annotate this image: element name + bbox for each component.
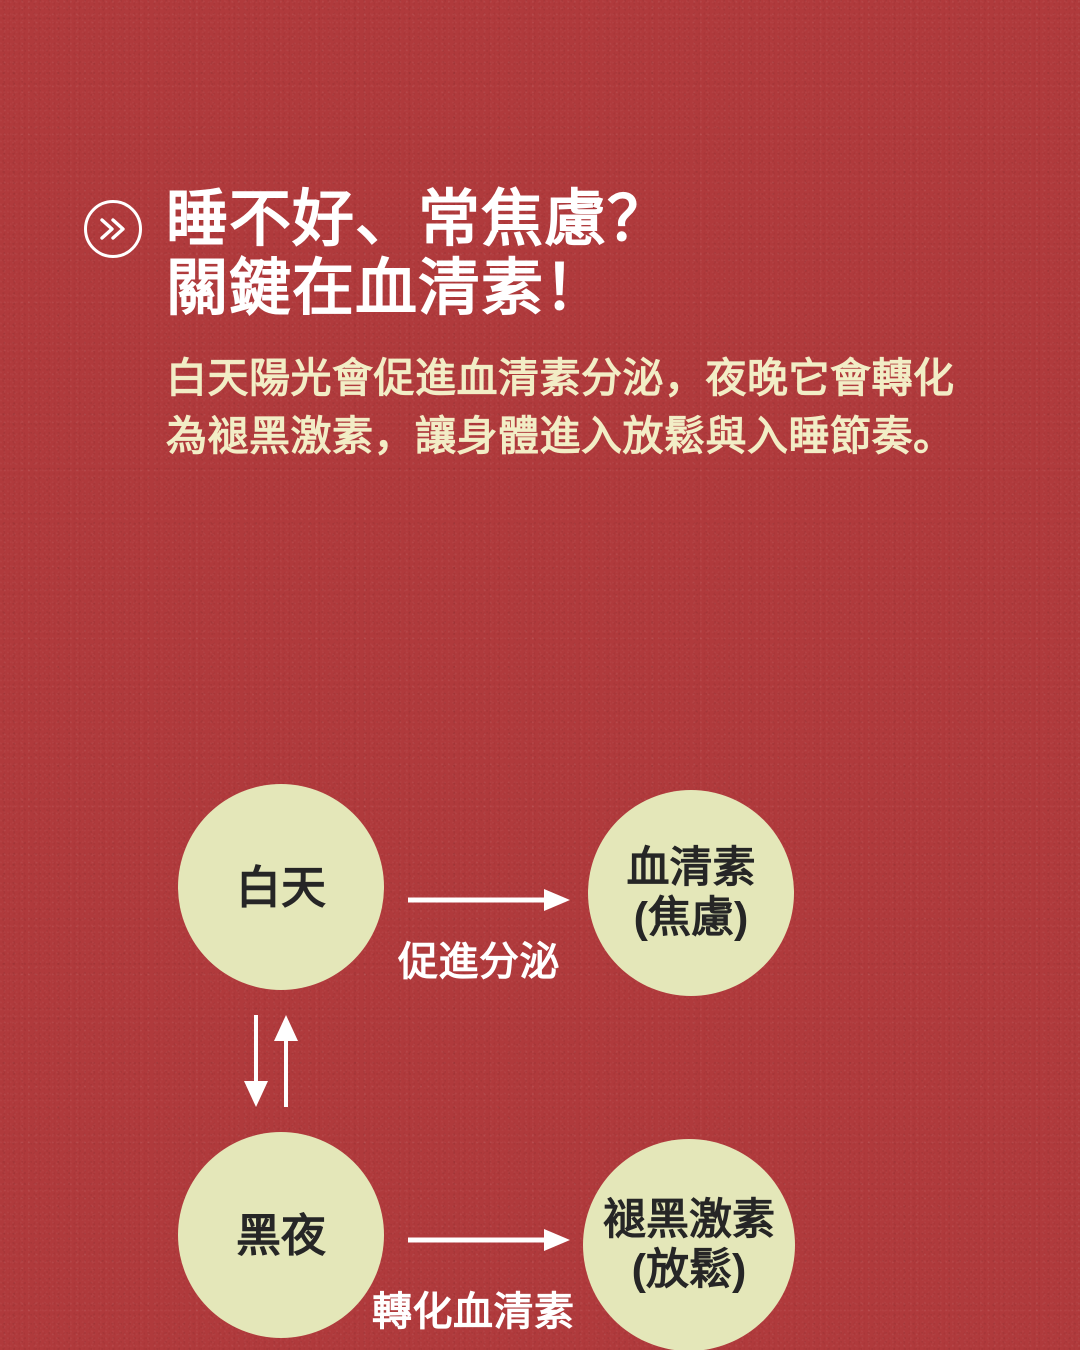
serotonin-melatonin-cycle-diagram: 白天 血清素 (焦慮) 黑夜 褪黑激素 (放鬆) 促進分泌 [0,279,1080,1350]
diagram-node-night: 黑夜 [178,1132,384,1338]
title-line-1: 睡不好、常焦慮？ [166,186,984,255]
edge-label-convert-serotonin: 轉化血清素 [372,1279,575,1337]
diagram-node-serotonin-label-1: 血清素 [627,843,756,894]
arrow-up-down-pair-icon-day-night-cycle [238,1015,304,1107]
arrow-right-icon-night-to-melatonin [408,1225,570,1255]
diagram-node-daytime-label: 白天 [236,861,326,914]
diagram-node-daytime: 白天 [178,784,384,990]
diagram-node-melatonin-label-2: (放鬆) [632,1245,747,1296]
double-chevron-right-icon [84,200,142,258]
diagram-node-serotonin-label-2: (焦慮) [634,893,749,944]
arrow-right-icon-daytime-to-serotonin [408,885,570,915]
diagram-node-melatonin-label-1: 褪黑激素 [603,1195,775,1246]
diagram-node-night-label: 黑夜 [236,1209,326,1262]
edge-label-promote-secretion: 促進分泌 [398,929,560,987]
poster-canvas: 睡不好、常焦慮？ 關鍵在血清素！ 白天陽光會促進血清素分泌，夜晚它會轉化 為褪黑… [0,0,1080,1350]
diagram-node-serotonin: 血清素 (焦慮) [588,790,794,996]
diagram-node-melatonin: 褪黑激素 (放鬆) [583,1139,795,1350]
